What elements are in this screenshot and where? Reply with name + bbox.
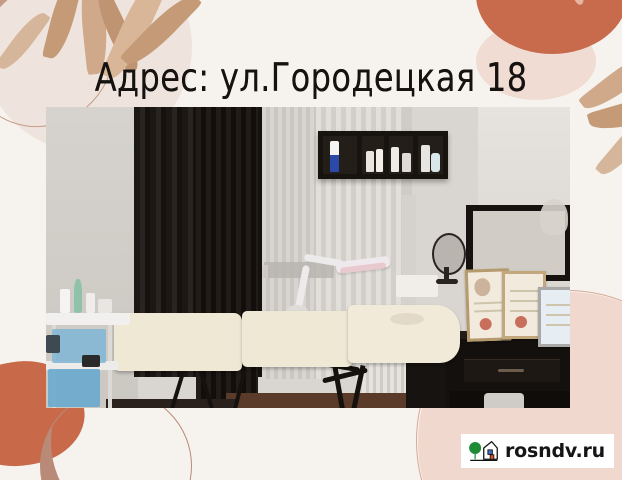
decor-terracotta-arch-top-right [476,0,622,54]
framed-certificate [538,287,570,347]
address-title-text: Адрес: ул.Городецкая 18 [95,58,528,97]
trolley-device [46,335,60,353]
treatment-table-section [114,313,242,371]
certificate-line [546,304,570,306]
trolley-item [74,279,82,313]
tissue-box [396,275,438,297]
certificate-line [510,290,538,292]
product-bottle [402,153,411,172]
product-bottle [391,147,399,172]
watermark-text: rosndv.ru [505,440,605,462]
certificate-line [474,310,502,313]
treatment-table-face-rest [390,313,424,325]
product-bottle [421,145,430,172]
certificate-seal [479,318,491,330]
table-mirror [432,233,466,275]
watermark-logo[interactable]: rosndv.ru [461,434,614,468]
house-tree-icon [468,439,498,463]
certificate-line [546,314,570,316]
address-title: Адрес: ул.Городецкая 18 [0,50,622,104]
table-mirror-base [436,279,458,284]
certificate-seal [515,316,527,328]
stool [484,393,524,408]
treatment-table-section [242,311,352,367]
trolley-item [60,289,70,313]
listing-card: Адрес: ул.Городецкая 18 [0,0,622,480]
product-bottle [366,151,374,172]
decor-speck [572,0,586,6]
trolley-blue-bin [48,369,100,407]
trolley-item [98,299,112,313]
supply-trolley-top [46,313,130,325]
wall-sconce [540,199,568,235]
trolley-item [86,293,95,313]
certificate-line [510,310,538,312]
shelf-cubby [323,136,357,174]
certificate-line [546,324,570,326]
decor-leaf-icon [595,107,622,181]
trolley-device [82,355,100,367]
wall-shelf [318,131,448,179]
window-frame-band [264,262,334,278]
certificate-line [474,302,502,305]
product-bottle [376,149,383,172]
certificate-line [510,300,538,302]
drawer-handle [498,369,524,372]
certificate-portrait [474,278,491,297]
room-photo[interactable] [46,107,570,408]
product-bottle [431,153,440,172]
product-bottle [330,141,339,172]
